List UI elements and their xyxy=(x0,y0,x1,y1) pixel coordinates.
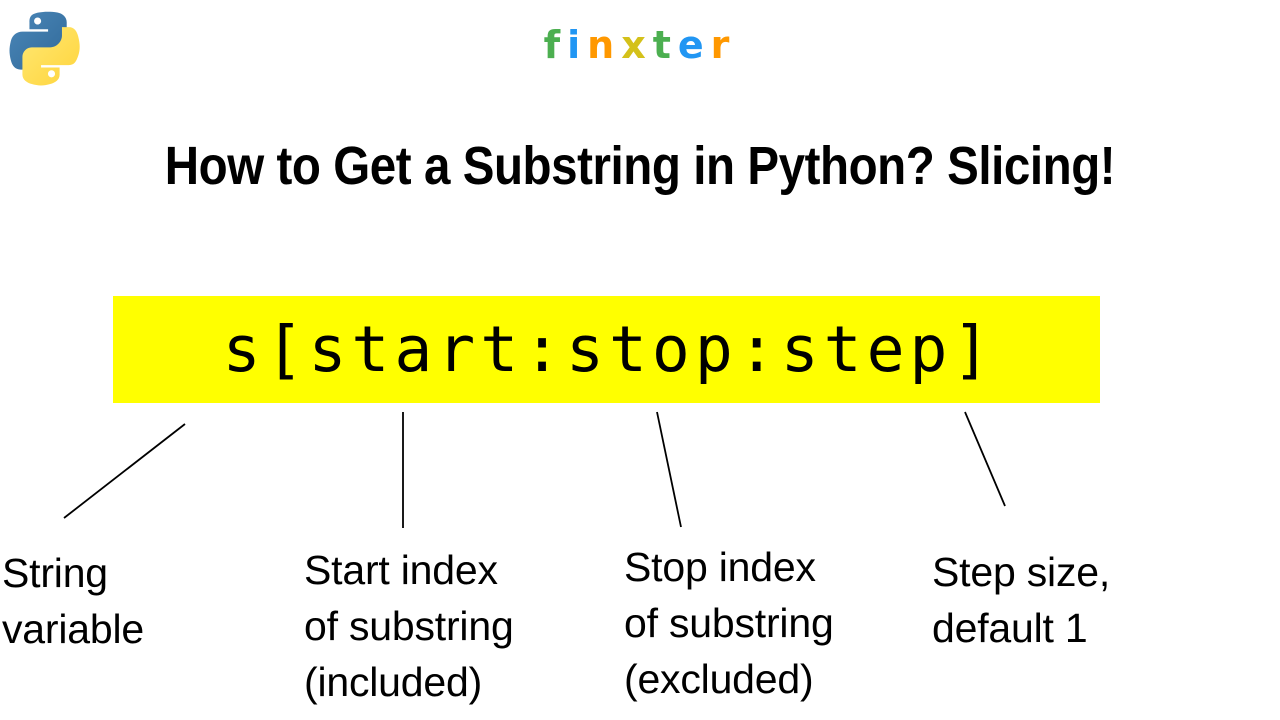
leader-line-string xyxy=(64,424,185,518)
leader-line-step xyxy=(965,412,1005,506)
slide-canvas: finxter How to Get a Substring in Python… xyxy=(0,0,1280,720)
callout-stop-index: Stop index of substring (excluded) xyxy=(624,539,924,707)
brand-letter-e: e xyxy=(678,22,711,68)
callout-step-size: Step size, default 1 xyxy=(932,544,1252,656)
brand-letter-n: n xyxy=(587,22,621,68)
finxter-wordmark: finxter xyxy=(0,22,1280,68)
callout-start-index: Start index of substring (included) xyxy=(304,542,604,710)
slide-title: How to Get a Substring in Python? Slicin… xyxy=(156,128,1124,204)
brand-letter-t: t xyxy=(653,22,678,68)
slice-syntax-text: s[start:stop:step] xyxy=(218,315,996,385)
brand-letter-r: r xyxy=(711,22,737,68)
brand-letter-i: i xyxy=(567,22,587,68)
callout-string-variable: String variable xyxy=(2,545,292,657)
brand-letter-f: f xyxy=(544,22,568,68)
leader-line-stop xyxy=(657,412,681,527)
brand-letter-x: x xyxy=(621,22,653,68)
code-highlight-box: s[start:stop:step] xyxy=(113,296,1100,403)
